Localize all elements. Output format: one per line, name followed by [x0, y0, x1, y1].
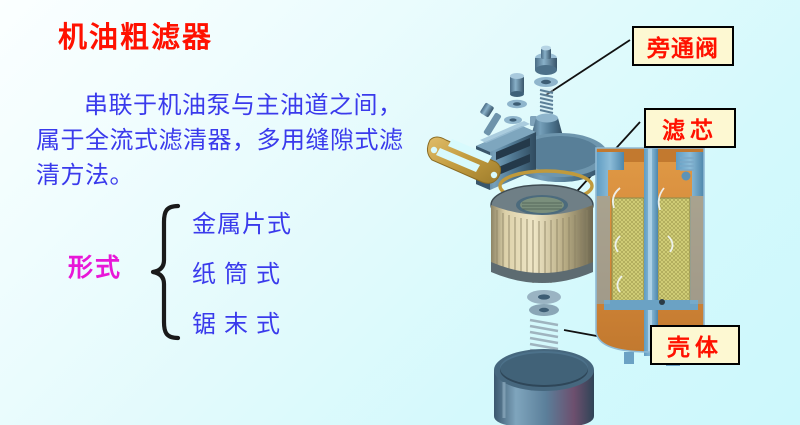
bypass-spring [540, 88, 553, 114]
classification-item-2: 锯末式 [192, 304, 288, 339]
classification-label: 形式 [68, 248, 122, 284]
classification-block: 形式 金属片式 纸筒式 锯末式 [40, 196, 400, 346]
valve-bolt [480, 102, 502, 136]
body-paragraph: 串联于机油泵与主油道之间，属于全流式滤清器，多用缝隙式滤清方法。 [36, 88, 416, 192]
callout-housing: 壳体 [650, 325, 740, 365]
callout-filter-element: 滤芯 [644, 108, 736, 148]
slide-canvas: 机油粗滤器 串联于机油泵与主油道之间，属于全流式滤清器，多用缝隙式滤清方法。 形… [0, 0, 800, 425]
leader-line-bypass [546, 40, 630, 95]
compression-spring [530, 320, 558, 354]
curly-brace-icon [148, 202, 182, 342]
page-title: 机油粗滤器 [58, 22, 213, 54]
classification-item-0: 金属片式 [192, 204, 292, 239]
filter-element [491, 185, 593, 283]
filter-housing [494, 349, 594, 425]
filter-assembly-illustration [418, 0, 800, 425]
callout-bypass-valve: 旁通阀 [632, 26, 734, 66]
exploded-view-diagram [418, 0, 800, 425]
classification-item-1: 纸筒式 [192, 254, 288, 289]
